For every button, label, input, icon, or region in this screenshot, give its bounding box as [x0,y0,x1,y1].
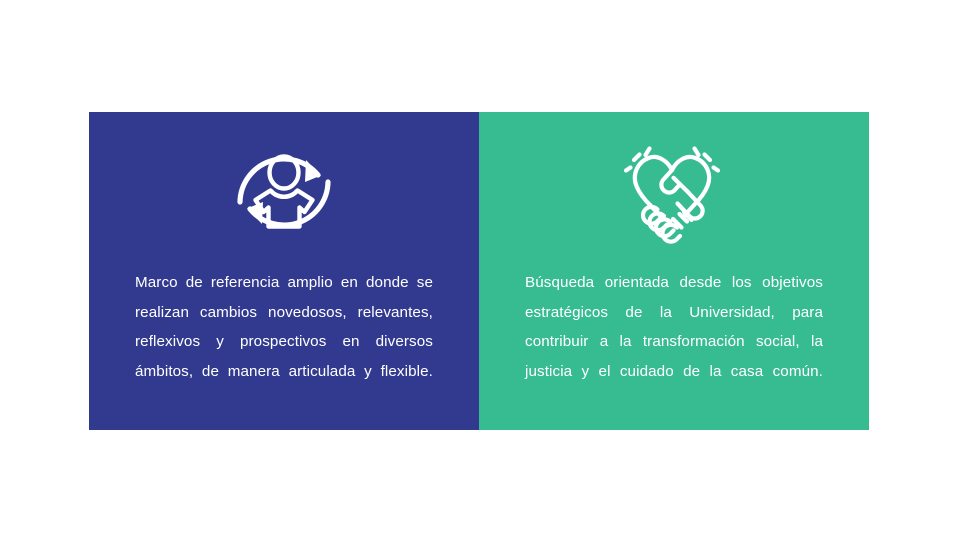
heart-handshake-icon [614,134,734,250]
person-cycle-arrows-icon [224,134,344,250]
panel-pertinencia[interactable]: Búsqueda orientada desde los objetivos e… [479,112,869,430]
panel-body-text: Búsqueda orientada desde los objetivos e… [525,268,823,416]
panel-body-text: Marco de referencia amplio en donde se r… [135,268,433,416]
panel-innovacion[interactable]: Marco de referencia amplio en donde se r… [89,112,479,430]
panel-group: Marco de referencia amplio en donde se r… [89,112,869,430]
slide-canvas: Marco de referencia amplio en donde se r… [0,0,960,540]
